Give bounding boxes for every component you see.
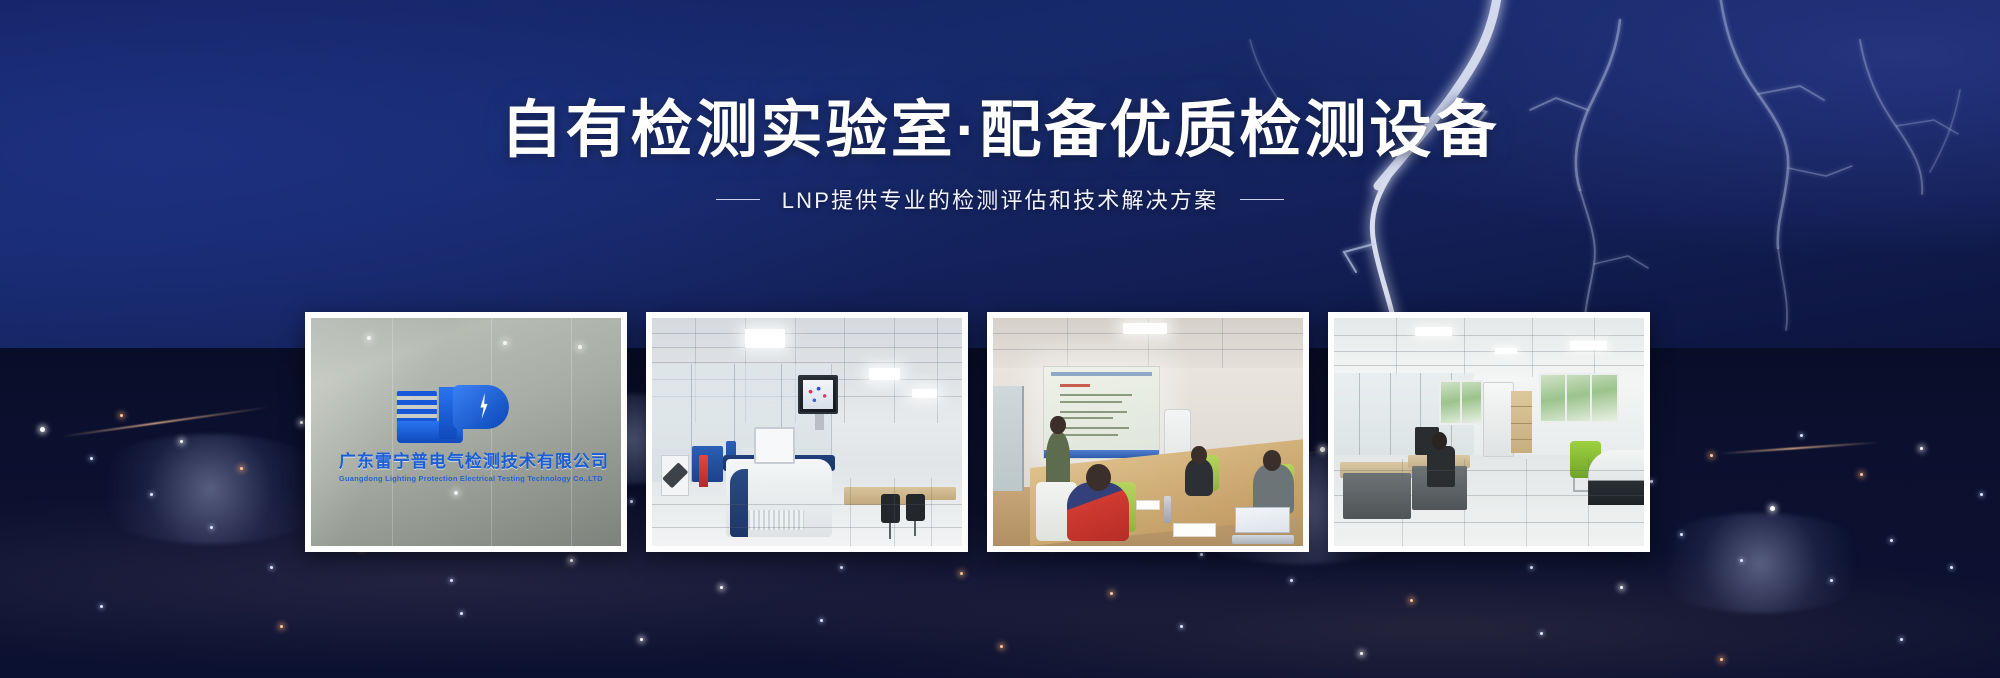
meeting-room-icon <box>993 318 1303 546</box>
divider-left-icon <box>716 199 760 200</box>
office-icon <box>1334 318 1644 546</box>
company-signage-icon: 广东雷宁普电气检测技术有限公司 Guangdong Lighting Prote… <box>311 318 621 546</box>
lnp-logomark-icon <box>391 381 541 443</box>
gallery-item-company-logo-wall[interactable]: 广东雷宁普电气检测技术有限公司 Guangdong Lighting Prote… <box>305 312 627 552</box>
page-subtitle: LNP提供专业的检测评估和技术解决方案 <box>782 183 1219 215</box>
page-title: 自有检测实验室·配备优质检测设备 <box>0 98 2000 163</box>
photo-gallery: 广东雷宁普电气检测技术有限公司 Guangdong Lighting Prote… <box>305 312 1648 552</box>
company-name-en: Guangdong Lighting Protection Electrical… <box>339 474 593 483</box>
gallery-item-office[interactable] <box>1328 312 1650 552</box>
company-name-cn: 广东雷宁普电气检测技术有限公司 <box>339 447 593 472</box>
divider-right-icon <box>1240 199 1284 200</box>
laboratory-icon <box>652 318 962 546</box>
laptop-icon <box>1232 507 1294 543</box>
lnp-logo: 广东雷宁普电气检测技术有限公司 Guangdong Lighting Prote… <box>339 381 593 483</box>
gallery-item-hv-lab[interactable] <box>646 312 968 552</box>
hero-banner: 自有检测实验室·配备优质检测设备 LNP提供专业的检测评估和技术解决方案 <box>0 0 2000 678</box>
gallery-item-meeting-room[interactable] <box>987 312 1309 552</box>
wall-monitor-icon <box>798 375 838 414</box>
reception-counter-icon <box>1588 450 1644 505</box>
subtitle-row: LNP提供专业的检测评估和技术解决方案 <box>0 183 2000 215</box>
headline-block: 自有检测实验室·配备优质检测设备 LNP提供专业的检测评估和技术解决方案 <box>0 98 2000 215</box>
